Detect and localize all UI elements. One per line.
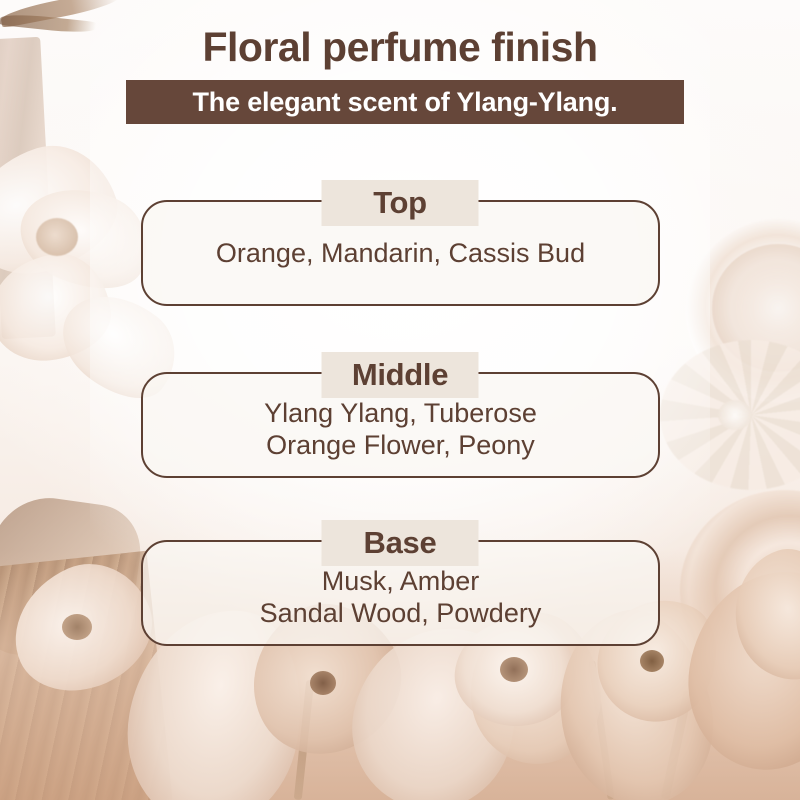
rose-icon: [680, 490, 800, 690]
flower-center-icon: [62, 614, 92, 640]
perfume-notes-poster: Floral perfume finish The elegant scent …: [0, 0, 800, 800]
note-ingredients-top: Orange, Mandarin, Cassis Bud: [202, 238, 599, 270]
subtitle-banner: The elegant scent of Ylang-Ylang.: [126, 80, 684, 124]
note-ingredients-middle: Ylang Ylang, Tuberose Orange Flower, Peo…: [250, 398, 551, 462]
citrus-core-icon: [718, 400, 752, 430]
stem-icon: [661, 690, 693, 799]
note-label-base: Base: [322, 520, 479, 566]
wood-shadow-bottom-left: [0, 490, 146, 669]
note-ingredients-base: Musk, Amber Sandal Wood, Powdery: [246, 566, 556, 630]
stem-icon: [294, 680, 314, 800]
flower-center-icon: [36, 218, 78, 256]
note-label-top: Top: [322, 180, 479, 226]
blossom-icon: [677, 560, 800, 780]
note-label-middle: Middle: [322, 352, 479, 398]
stem-icon: [588, 660, 614, 800]
flower-center-icon: [500, 657, 528, 682]
blossom-icon: [718, 536, 800, 694]
flower-center-icon: [640, 650, 664, 672]
orchid-petal-icon: [0, 130, 131, 290]
page-title: Floral perfume finish: [0, 24, 800, 71]
citrus-slice-icon: [660, 340, 800, 490]
flower-center-icon: [310, 671, 336, 695]
orchid-petal-icon: [7, 169, 163, 306]
subtitle-text: The elegant scent of Ylang-Ylang.: [193, 87, 618, 118]
wood-plank-top-left-icon: [0, 37, 56, 339]
orchid-petal-icon: [0, 249, 115, 366]
rose-inner-icon: [712, 244, 800, 372]
rose-icon: [686, 218, 800, 403]
